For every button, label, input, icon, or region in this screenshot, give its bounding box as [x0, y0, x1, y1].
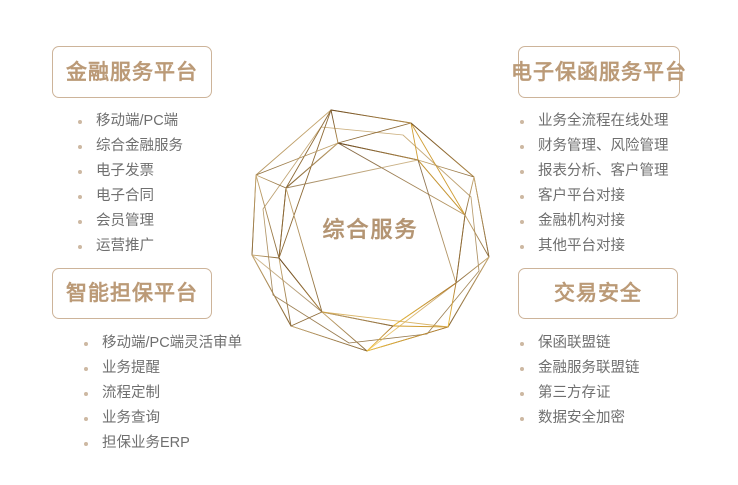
panel-title-label: 交易安全: [554, 283, 642, 304]
list-item: 报表分析、客户管理: [520, 159, 669, 184]
bullet-dot-icon: [84, 342, 88, 346]
list-item-label: 流程定制: [102, 385, 160, 401]
bullet-dot-icon: [84, 442, 88, 446]
list-item: 电子发票: [78, 159, 183, 184]
list-item-label: 金融服务联盟链: [538, 360, 640, 376]
bullet-dot-icon: [520, 145, 524, 149]
list-item-label: 业务提醒: [102, 360, 160, 376]
list-item-label: 财务管理、风险管理: [538, 138, 669, 154]
list-item: 流程定制: [84, 381, 242, 406]
list-item-label: 会员管理: [96, 213, 154, 229]
list-item-label: 移动端/PC端: [96, 113, 178, 129]
list-item-label: 担保业务ERP: [102, 435, 190, 451]
feature-list-security: 保函联盟链 金融服务联盟链 第三方存证 数据安全加密: [520, 331, 640, 431]
bullet-dot-icon: [84, 392, 88, 396]
bullet-dot-icon: [520, 195, 524, 199]
bullet-dot-icon: [84, 367, 88, 371]
list-item: 业务提醒: [84, 356, 242, 381]
panel-title-label: 智能担保平台: [66, 283, 198, 304]
list-item: 第三方存证: [520, 381, 640, 406]
bullet-dot-icon: [520, 367, 524, 371]
list-item-label: 第三方存证: [538, 385, 611, 401]
list-item: 担保业务ERP: [84, 431, 242, 456]
list-item-label: 综合金融服务: [96, 138, 183, 154]
bullet-dot-icon: [78, 145, 82, 149]
bullet-dot-icon: [78, 120, 82, 124]
list-item-label: 运营推广: [96, 238, 154, 254]
feature-list-guarantee: 移动端/PC端灵活审单 业务提醒 流程定制 业务查询 担保业务ERP: [84, 331, 242, 456]
list-item-label: 报表分析、客户管理: [538, 163, 669, 179]
panel-title-label: 金融服务平台: [66, 62, 198, 83]
bullet-dot-icon: [78, 220, 82, 224]
list-item: 数据安全加密: [520, 406, 640, 431]
bullet-dot-icon: [520, 120, 524, 124]
bullet-dot-icon: [78, 245, 82, 249]
list-item: 其他平台对接: [520, 234, 669, 259]
panel-title-finance: 金融服务平台: [52, 46, 212, 98]
list-item: 电子合同: [78, 184, 183, 209]
list-item-label: 移动端/PC端灵活审单: [102, 335, 242, 351]
list-item: 移动端/PC端: [78, 109, 183, 134]
bullet-dot-icon: [520, 245, 524, 249]
bullet-dot-icon: [520, 342, 524, 346]
bullet-dot-icon: [78, 170, 82, 174]
gold-wireframe-polyhedron-icon: [243, 105, 498, 360]
list-item-label: 电子发票: [96, 163, 154, 179]
list-item-label: 客户平台对接: [538, 188, 625, 204]
list-item: 会员管理: [78, 209, 183, 234]
list-item-label: 数据安全加密: [538, 410, 625, 426]
panel-title-security: 交易安全: [518, 268, 678, 319]
list-item: 业务全流程在线处理: [520, 109, 669, 134]
list-item: 金融机构对接: [520, 209, 669, 234]
feature-list-eguarantee: 业务全流程在线处理 财务管理、风险管理 报表分析、客户管理 客户平台对接 金融机…: [520, 109, 669, 259]
feature-list-finance: 移动端/PC端 综合金融服务 电子发票 电子合同 会员管理 运营推广: [78, 109, 183, 259]
list-item: 财务管理、风险管理: [520, 134, 669, 159]
bullet-dot-icon: [520, 220, 524, 224]
list-item-label: 业务查询: [102, 410, 160, 426]
list-item-label: 其他平台对接: [538, 238, 625, 254]
list-item: 业务查询: [84, 406, 242, 431]
bullet-dot-icon: [84, 417, 88, 421]
panel-title-eguarantee: 电子保函服务平台: [518, 46, 680, 98]
bullet-dot-icon: [78, 195, 82, 199]
bullet-dot-icon: [520, 170, 524, 174]
infographic-canvas: 金融服务平台 移动端/PC端 综合金融服务 电子发票 电子合同 会员管理 运营推…: [0, 0, 738, 485]
bullet-dot-icon: [520, 392, 524, 396]
list-item: 运营推广: [78, 234, 183, 259]
list-item: 金融服务联盟链: [520, 356, 640, 381]
panel-title-guarantee: 智能担保平台: [52, 268, 212, 319]
list-item: 移动端/PC端灵活审单: [84, 331, 242, 356]
list-item: 保函联盟链: [520, 331, 640, 356]
list-item-label: 金融机构对接: [538, 213, 625, 229]
list-item-label: 电子合同: [96, 188, 154, 204]
panel-title-label: 电子保函服务平台: [511, 62, 687, 83]
list-item-label: 保函联盟链: [538, 335, 611, 351]
list-item: 综合金融服务: [78, 134, 183, 159]
list-item: 客户平台对接: [520, 184, 669, 209]
bullet-dot-icon: [520, 417, 524, 421]
list-item-label: 业务全流程在线处理: [538, 113, 669, 129]
